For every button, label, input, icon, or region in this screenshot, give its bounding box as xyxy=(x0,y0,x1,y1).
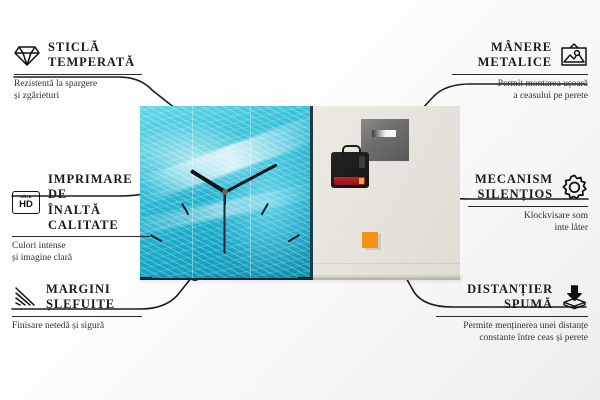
clock-hand-hour xyxy=(190,169,226,194)
infographic-canvas: STICLĂ TEMPERATĂ Rezistentă la spargere … xyxy=(0,0,600,400)
feature-description: Klockvisare som inte låter xyxy=(468,210,588,235)
mechanism-loop xyxy=(342,145,361,156)
battery-terminal xyxy=(359,178,364,184)
feature-title: DISTANȚIER SPUMĂ xyxy=(467,282,553,313)
feature-rule xyxy=(14,74,142,75)
feature-polished-edges: MARGINI ȘLEFUITE Finisare netedă și sigu… xyxy=(12,282,142,332)
feature-header: MÂNERE METALICE xyxy=(452,40,588,71)
clock-tick xyxy=(261,203,269,215)
feature-metal-handles: MÂNERE METALICE Permit montarea ușoară a… xyxy=(452,40,588,102)
feature-header: MECANISM SILENȚIOS xyxy=(468,172,588,203)
feature-rule xyxy=(468,206,588,207)
battery xyxy=(334,177,365,185)
feature-title: IMPRIMARE DE ÎNALTĂ CALITATE xyxy=(48,172,150,233)
feature-header: MARGINI ȘLEFUITE xyxy=(12,282,142,313)
clock-tick xyxy=(150,234,162,242)
clock-tick xyxy=(181,203,189,215)
feature-rule xyxy=(12,236,150,237)
panel-shelf-line xyxy=(313,263,460,264)
feature-rule xyxy=(436,316,588,317)
feature-title: STICLĂ TEMPERATĂ xyxy=(48,40,135,71)
clock-dial xyxy=(140,106,310,278)
feature-silent-mechanism: MECANISM SILENȚIOS Klockvisare som inte … xyxy=(468,172,588,234)
feature-description: Permite menținerea unei distanțe constan… xyxy=(436,320,588,345)
feature-description: Rezistentă la spargere și zgârieturi xyxy=(14,78,142,103)
product-image xyxy=(140,106,460,278)
feature-description: Finisare netedă și sigură xyxy=(12,320,142,332)
clock-tick xyxy=(288,234,300,242)
feature-title: MARGINI ȘLEFUITE xyxy=(46,282,115,313)
feature-foam-spacer: DISTANȚIER SPUMĂ Permite menținerea unei… xyxy=(436,282,588,344)
feature-rule xyxy=(452,74,588,75)
polished-edges-icon xyxy=(12,286,38,308)
feature-description: Permit montarea ușoară a ceasului pe per… xyxy=(452,78,588,103)
mechanism-knob xyxy=(359,156,365,168)
feature-high-quality-print: ultra HD IMPRIMARE DE ÎNALTĂ CALITATE Cu… xyxy=(12,172,150,265)
feature-description: Culori intense și imagine clară xyxy=(12,240,150,265)
foam-spacer xyxy=(362,232,378,248)
feature-header: DISTANȚIER SPUMĂ xyxy=(436,282,588,313)
feature-header: ultra HD IMPRIMARE DE ÎNALTĂ CALITATE xyxy=(12,172,150,233)
ultra-hd-icon-hd-label: HD xyxy=(19,200,33,210)
down-arrow-pad-icon xyxy=(561,285,588,310)
gear-icon xyxy=(561,174,588,201)
product-shadow xyxy=(140,276,462,284)
feature-rule xyxy=(12,316,142,317)
clock-hub xyxy=(222,189,228,195)
clock-mechanism xyxy=(331,152,369,188)
hanger-slot xyxy=(372,130,396,137)
feature-tempered-glass: STICLĂ TEMPERATĂ Rezistentă la spargere … xyxy=(14,40,142,102)
feature-title: MÂNERE METALICE xyxy=(478,40,552,71)
ultra-hd-icon: ultra HD xyxy=(12,191,40,214)
picture-hanger-icon xyxy=(560,43,588,67)
clock-hand-minute xyxy=(224,163,277,193)
clock-back-panel xyxy=(313,106,460,280)
clock-face-panel xyxy=(140,106,313,280)
feature-header: STICLĂ TEMPERATĂ xyxy=(14,40,142,71)
diamond-icon xyxy=(14,44,40,67)
feature-title: MECANISM SILENȚIOS xyxy=(475,172,553,203)
